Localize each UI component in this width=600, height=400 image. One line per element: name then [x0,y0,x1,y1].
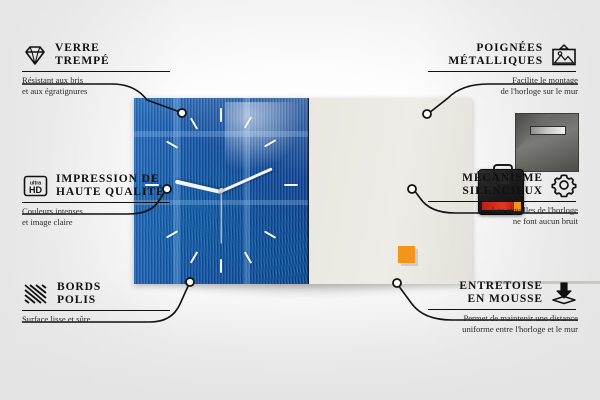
callout-bords-polis[interactable]: BORDS POLIS Surface lisse et sûre [22,281,172,325]
polished-edges-icon [22,282,50,306]
callout-title: MÉCANISME SILENCIEUX [428,172,543,198]
callout-header: MÉCANISME SILENCIEUX [428,172,578,198]
callout-description: Résistant aux bris et aux égratignures [22,75,172,96]
gear-icon [550,172,578,198]
callout-header: ENTRETOISE EN MOUSSE [428,280,578,306]
second-hand [220,192,221,244]
metal-hanger-plate [515,113,579,172]
callout-title: IMPRESSION DE HAUTE QUALITÉ [56,173,165,199]
callout-title: VERRE TREMPÉ [55,42,110,68]
callout-description: Surface lisse et sûre [22,314,172,325]
callout-description: Facilite le montage de l'horloge sur le … [428,75,578,96]
infographic-canvas: VERRE TREMPÉ Résistant aux bris et aux é… [0,0,600,400]
callout-description: Couleurs intenses et image claire [22,206,172,227]
callout-divider [22,202,170,203]
callout-divider [428,71,576,72]
callout-description: Les aiguilles de l'horloge ne font aucun… [428,205,578,226]
picture-frame-icon [550,43,578,67]
callout-divider [22,71,170,72]
callout-header: VERRE TREMPÉ [22,42,172,68]
callout-header: ultra HD IMPRESSION DE HAUTE QUALITÉ [22,173,172,199]
callout-divider [428,201,576,202]
callout-title: ENTRETOISE EN MOUSSE [428,280,543,306]
callout-poignees-metalliques[interactable]: POIGNÉES MÉTALLIQUES Facilite le montage… [428,42,578,96]
svg-text:HD: HD [29,185,42,195]
callout-mecanisme-silencieux[interactable]: MÉCANISME SILENCIEUX Les aiguilles de l'… [428,172,578,226]
callout-divider [428,309,576,310]
foam-spacer [398,246,415,263]
foam-spacer-icon [550,281,578,305]
callout-description: Permet de maintenir une distance uniform… [428,313,578,334]
callout-title: BORDS POLIS [57,281,101,307]
callout-header: POIGNÉES MÉTALLIQUES [428,42,578,68]
callout-divider [22,310,170,311]
callout-entretoise-en-mousse[interactable]: ENTRETOISE EN MOUSSE Permet de maintenir… [428,280,578,334]
callout-verre-trempe[interactable]: VERRE TREMPÉ Résistant aux bris et aux é… [22,42,172,96]
ultra-hd-icon: ultra HD [22,174,49,198]
hanger-slot [530,126,566,135]
callout-impression-haute-qualite[interactable]: ultra HD IMPRESSION DE HAUTE QUALITÉ Cou… [22,173,172,227]
diamond-icon [22,44,48,66]
product-drop-shadow [140,282,475,298]
product-image [134,98,472,284]
callout-title: POIGNÉES MÉTALLIQUES [428,42,543,68]
callout-header: BORDS POLIS [22,281,172,307]
hands-center-cap [219,188,224,193]
